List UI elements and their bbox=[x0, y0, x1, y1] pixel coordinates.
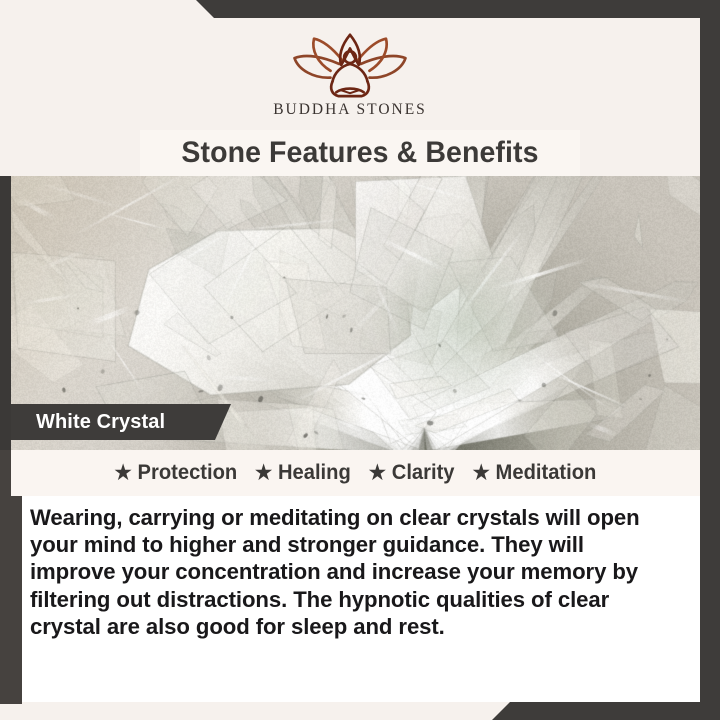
brand-wordmark: BUDDHA STONES bbox=[273, 101, 427, 119]
benefit-item-meditation: ★Meditation bbox=[466, 461, 603, 485]
lotus-meditation-figure-icon bbox=[275, 28, 425, 100]
outer-dark-frame: BUDDHA STONES Stone Features & Benefits … bbox=[0, 0, 720, 720]
benefit-label: Meditation bbox=[496, 461, 597, 485]
star-icon: ★ bbox=[114, 463, 131, 483]
benefit-label: Protection bbox=[137, 461, 237, 485]
star-icon: ★ bbox=[255, 463, 272, 483]
stone-name-label: White Crystal bbox=[36, 411, 165, 434]
stone-name-ribbon: White Crystal bbox=[11, 404, 231, 440]
bottom-white-gutter bbox=[22, 640, 700, 702]
star-icon: ★ bbox=[473, 463, 490, 483]
brand-header: BUDDHA STONES bbox=[0, 18, 700, 130]
benefit-item-clarity: ★Clarity bbox=[362, 461, 461, 485]
page-title: Stone Features & Benefits bbox=[181, 136, 538, 170]
benefit-label: Healing bbox=[278, 461, 351, 485]
star-icon: ★ bbox=[369, 463, 386, 483]
benefits-list: ★Protection★Healing★Clarity★Meditation bbox=[11, 450, 700, 496]
benefit-item-healing: ★Healing bbox=[249, 461, 358, 485]
benefit-item-protection: ★Protection bbox=[107, 461, 243, 485]
benefit-label: Clarity bbox=[392, 461, 455, 485]
title-banner: Stone Features & Benefits bbox=[140, 130, 580, 176]
description-text: Wearing, carrying or meditating on clear… bbox=[30, 504, 666, 640]
